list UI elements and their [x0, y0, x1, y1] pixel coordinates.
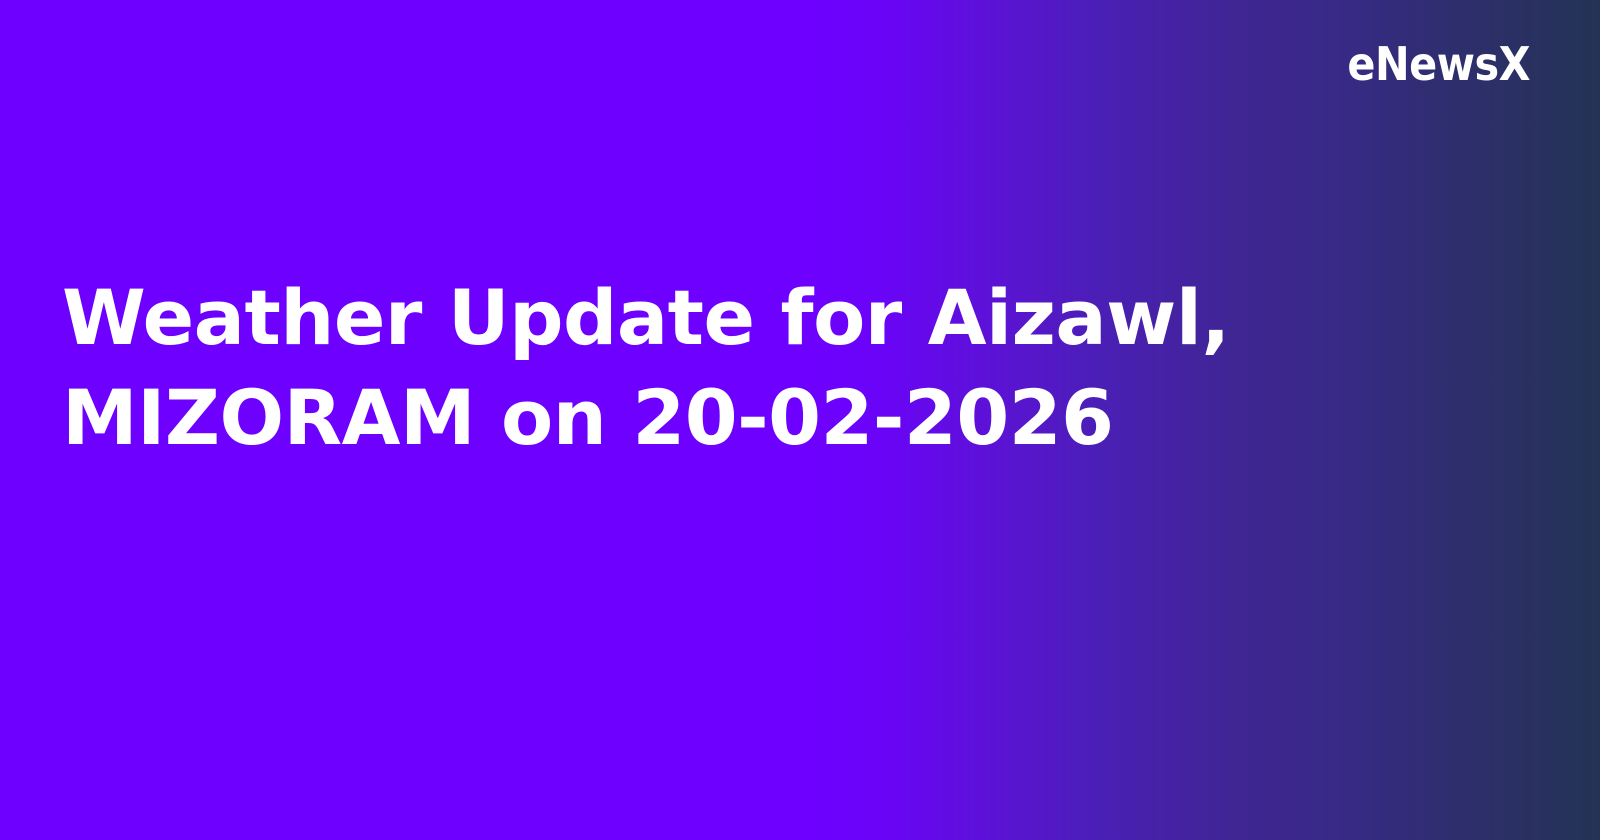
news-banner-card: eNewsX Weather Update for Aizawl, MIZORA… [0, 0, 1600, 840]
page-title: Weather Update for Aizawl, MIZORAM on 20… [62, 268, 1392, 468]
headline-block: Weather Update for Aizawl, MIZORAM on 20… [62, 0, 1482, 840]
